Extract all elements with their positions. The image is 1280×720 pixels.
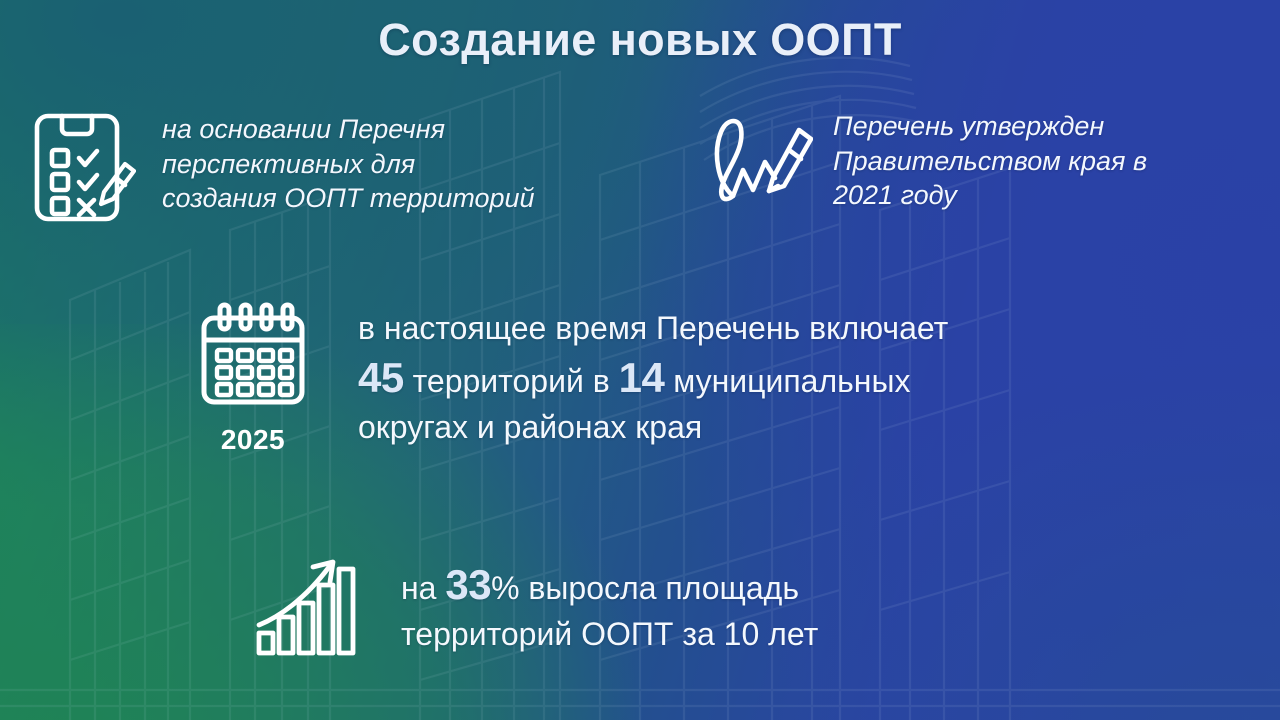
calendar-mid-text: территорий в — [404, 363, 619, 399]
percent-growth: 33 — [445, 561, 491, 608]
calendar-text: в настоящее время Перечень включает 45 т… — [358, 307, 1148, 449]
calendar-icon — [196, 300, 310, 412]
info-block-signature: Перечень утвержден Правительством края в… — [703, 104, 1223, 213]
growth-after-percent: выросла площадь — [520, 570, 799, 606]
signature-pen-icon — [703, 104, 813, 212]
count-territories: 45 — [358, 354, 404, 401]
signature-text: Перечень утвержден Правительством края в… — [833, 109, 1223, 213]
calendar-after-text: муниципальных — [664, 363, 910, 399]
info-block-calendar: 2025 в настоящее время Перечень включает… — [196, 300, 1148, 456]
percent-sign: % — [491, 570, 519, 606]
info-block-growth: на 33% выросла площадь территорий ООПТ з… — [253, 553, 1081, 657]
growth-text: на 33% выросла площадь территорий ООПТ з… — [401, 557, 1081, 656]
page-title: Создание новых ООПТ — [0, 14, 1280, 66]
bar-chart-growth-icon — [253, 553, 357, 657]
calendar-icon-group: 2025 — [196, 300, 310, 456]
info-block-checklist: на основании Перечня перспективных для с… — [32, 106, 662, 224]
count-districts: 14 — [619, 354, 665, 401]
checklist-text: на основании Перечня перспективных для с… — [162, 112, 662, 216]
calendar-line1: в настоящее время Перечень включает — [358, 310, 948, 346]
calendar-line3: округах и районах края — [358, 409, 702, 445]
slide-root: Создание новых ООПТ на основании Перечня… — [0, 0, 1280, 720]
growth-prefix: на — [401, 570, 445, 606]
calendar-year-label: 2025 — [221, 424, 285, 456]
growth-line2: территорий ООПТ за 10 лет — [401, 616, 818, 652]
clipboard-checklist-pencil-icon — [32, 106, 136, 224]
